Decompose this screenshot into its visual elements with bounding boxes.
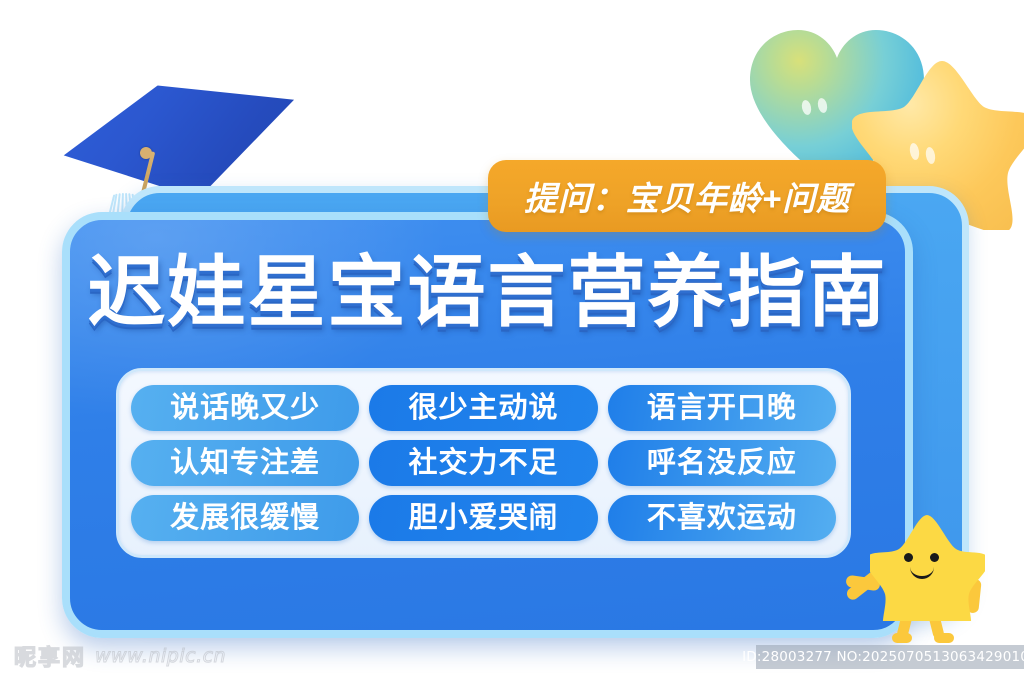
symptom-tag[interactable]: 说话晚又少 [131, 385, 359, 431]
symptom-tag[interactable]: 很少主动说 [369, 385, 597, 431]
mascot-foot-left [892, 633, 912, 643]
symptom-tag[interactable]: 语言开口晚 [608, 385, 836, 431]
symptom-row: 说话晚又少 很少主动说 语言开口晚 [131, 385, 836, 431]
symptom-tag[interactable]: 社交力不足 [369, 440, 597, 486]
watermark: 昵享网 www.nipic.cn [14, 640, 226, 672]
poster-canvas: 迟娃星宝语言营养指南 说话晚又少 很少主动说 语言开口晚 认知专注差 社交力不足… [0, 0, 1024, 683]
symptom-row: 认知专注差 社交力不足 呼名没反应 [131, 440, 836, 486]
question-ribbon-label: 提问：宝贝年龄+问题 [524, 172, 850, 220]
mascot-eye-left [904, 553, 913, 562]
question-ribbon[interactable]: 提问：宝贝年龄+问题 [488, 160, 886, 232]
symptom-tag[interactable]: 认知专注差 [131, 440, 359, 486]
mascot-eye-right [930, 553, 939, 562]
watermark-url: www.nipic.cn [95, 645, 226, 667]
image-id-text: ID:28003277 NO:20250705130634290107 [742, 649, 1024, 665]
mascot-foot-right [934, 633, 954, 643]
star-mascot-icon [860, 505, 1000, 645]
symptom-tag[interactable]: 胆小爱哭闹 [369, 495, 597, 541]
symptom-tag[interactable]: 发展很缓慢 [131, 495, 359, 541]
symptom-panel: 说话晚又少 很少主动说 语言开口晚 认知专注差 社交力不足 呼名没反应 发展很缓… [116, 368, 851, 558]
symptom-tag[interactable]: 呼名没反应 [608, 440, 836, 486]
image-id-bar: ID:28003277 NO:20250705130634290107 [756, 645, 1024, 669]
page-title: 迟娃星宝语言营养指南 [70, 246, 905, 338]
main-card: 迟娃星宝语言营养指南 说话晚又少 很少主动说 语言开口晚 认知专注差 社交力不足… [62, 212, 913, 638]
symptom-row: 发展很缓慢 胆小爱哭闹 不喜欢运动 [131, 495, 836, 541]
watermark-logo: 昵享网 [14, 640, 86, 672]
symptom-tag[interactable]: 不喜欢运动 [608, 495, 836, 541]
